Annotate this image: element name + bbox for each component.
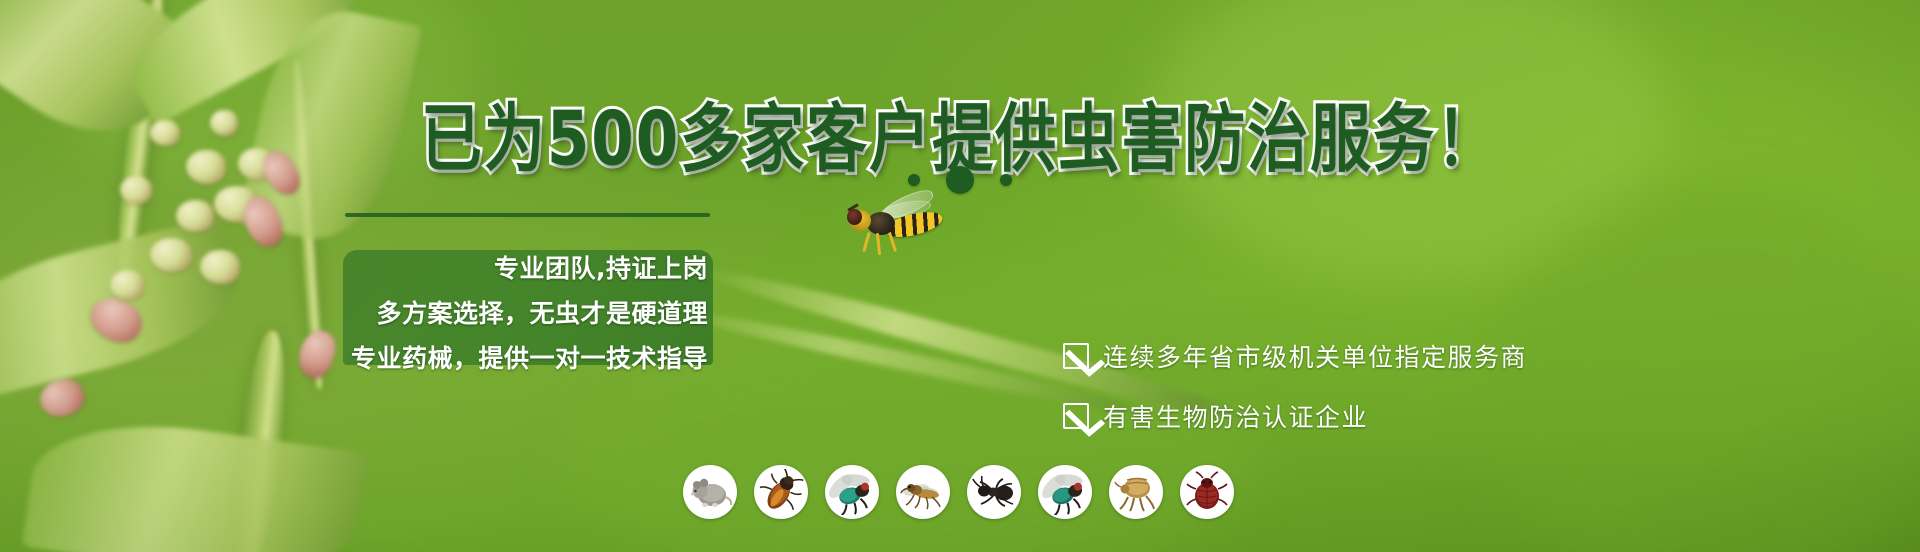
- flea-icon: [1109, 465, 1163, 519]
- selling-point-line-3: 专业药械，提供一对一技术指导: [351, 346, 708, 371]
- dot-small-icon: [1000, 174, 1012, 186]
- dot-small-icon: [908, 174, 920, 186]
- selling-points-text-group: 专业团队,持证上岗 多方案选择，无虫才是硬道理 专业药械，提供一对一技术指导: [330, 218, 730, 368]
- banner-headline: 已为500多家客户提供虫害防治服务！: [0, 78, 1920, 167]
- checklist-item: 有害生物防治认证企业: [1063, 398, 1527, 434]
- hoverfly-leg: [862, 232, 870, 252]
- checklist-item-label: 连续多年省市级机关单位指定服务商: [1103, 338, 1527, 374]
- plant-bud: [176, 200, 214, 232]
- promotional-banner: 已为500多家客户提供虫害防治服务！ 专业团队,持证上岗 多方案选择，无虫才是硬…: [0, 0, 1920, 552]
- rodent-mouse-icon: [683, 465, 737, 519]
- cockroach-icon: [754, 465, 808, 519]
- plant-bud: [110, 270, 144, 300]
- plant-leaf: [22, 408, 368, 552]
- housefly-icon: [825, 465, 879, 519]
- hoverfly-leg: [876, 233, 881, 255]
- checkbox-checked-icon: [1063, 343, 1089, 369]
- decorative-dot-row: [0, 166, 1920, 194]
- ant-icon: [967, 465, 1021, 519]
- plant-bud: [200, 250, 240, 284]
- pest-icon-row: [683, 465, 1234, 519]
- checkbox-checked-icon: [1063, 403, 1089, 429]
- checklist-item-label: 有害生物防治认证企业: [1103, 398, 1368, 434]
- selling-point-line-1: 专业团队,持证上岗: [494, 256, 708, 281]
- bedbug-icon: [1180, 465, 1234, 519]
- hoverfly-illustration: [845, 196, 955, 258]
- certification-checklist: 连续多年省市级机关单位指定服务商 有害生物防治认证企业: [1063, 338, 1527, 458]
- blowfly-icon: [1038, 465, 1092, 519]
- mosquito-icon: [896, 465, 950, 519]
- plant-bud: [150, 238, 192, 272]
- dot-large-icon: [946, 166, 974, 194]
- checklist-item: 连续多年省市级机关单位指定服务商: [1063, 338, 1527, 374]
- selling-point-line-2: 多方案选择，无虫才是硬道理: [376, 301, 708, 326]
- divider-rule: [345, 213, 710, 217]
